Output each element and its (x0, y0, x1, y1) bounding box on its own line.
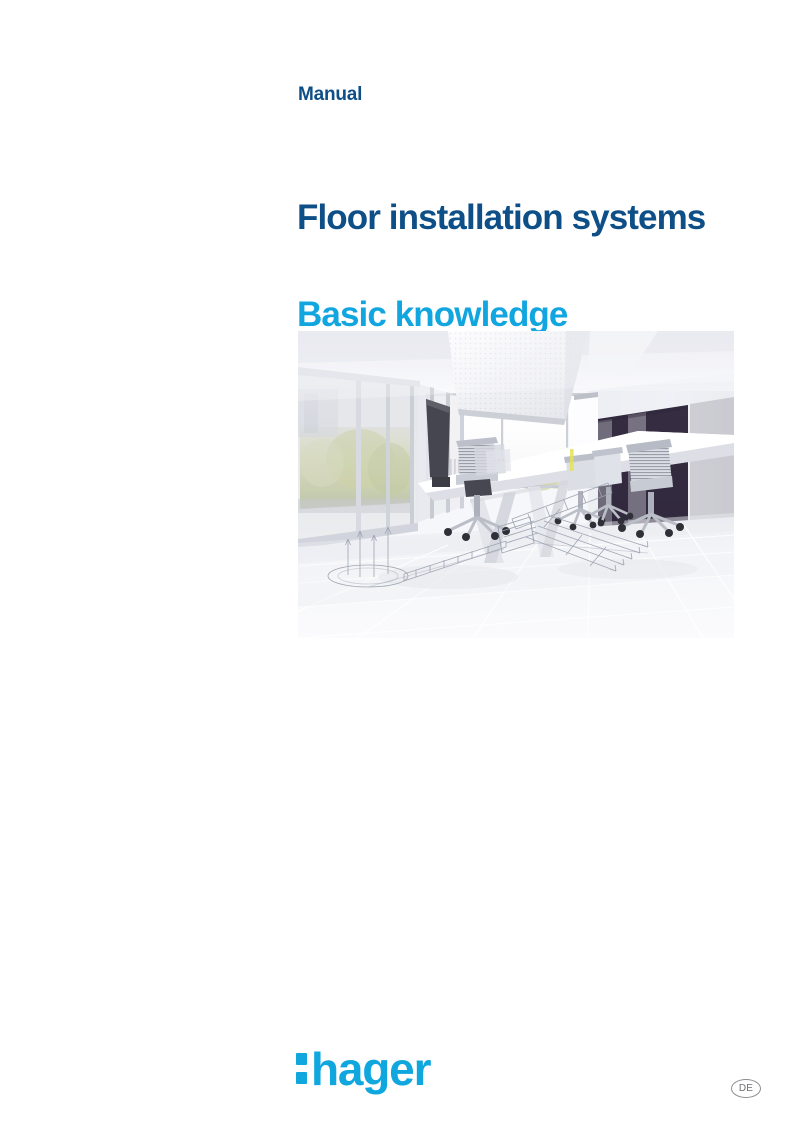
hager-wordmark: hager (311, 1043, 432, 1095)
language-badge: DE (731, 1079, 761, 1098)
page-title: Floor installation systems (297, 199, 705, 238)
cover-image (298, 331, 734, 638)
office-scene-illustration (298, 331, 734, 638)
language-badge-label: DE (739, 1084, 753, 1094)
document-kicker: Manual (298, 84, 362, 106)
hager-logo-mark: hager (293, 1039, 453, 1101)
page-subtitle: Basic knowledge (297, 296, 567, 335)
hager-logo: hager (293, 1039, 453, 1101)
cover-page: Manual Floor installation systems Basic … (0, 0, 802, 1134)
